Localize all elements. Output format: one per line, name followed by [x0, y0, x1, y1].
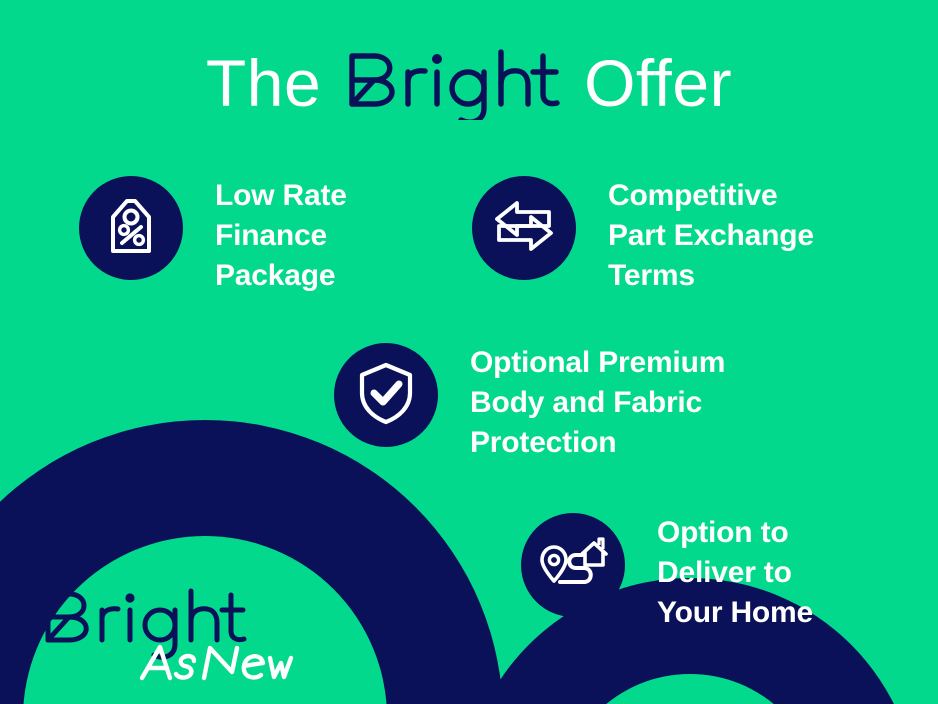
feature-label: Low Rate Finance Package [215, 176, 347, 296]
feature-label: Option to Deliver to Your Home [657, 513, 813, 633]
feature-home-delivery: Option to Deliver to Your Home [521, 513, 813, 633]
title-suffix: Offer [584, 46, 732, 120]
page-title: The [0, 42, 938, 124]
map-pin-road-house-icon [538, 532, 608, 599]
exchange-arrows-icon [491, 195, 557, 262]
feature-icon-badge [79, 176, 183, 280]
feature-low-rate-finance: Low Rate Finance Package [79, 176, 347, 296]
title-prefix: The [206, 46, 321, 120]
promotional-poster: The [0, 0, 938, 704]
bright-wordmark-title [338, 42, 568, 124]
shield-check-icon [357, 361, 415, 430]
feature-label: Competitive Part Exchange Terms [608, 176, 814, 296]
feature-part-exchange: Competitive Part Exchange Terms [472, 176, 814, 296]
price-tag-percent-icon [103, 195, 159, 262]
feature-icon-badge [472, 176, 576, 280]
feature-icon-badge [521, 513, 625, 617]
brand-primary-wordmark [48, 591, 244, 657]
brand-logo-lockup [38, 578, 298, 686]
feature-body-fabric-protection: Optional Premium Body and Fabric Protect… [334, 343, 725, 463]
brand-secondary-wordmark [142, 647, 291, 678]
feature-icon-badge [334, 343, 438, 447]
feature-label: Optional Premium Body and Fabric Protect… [470, 343, 725, 463]
